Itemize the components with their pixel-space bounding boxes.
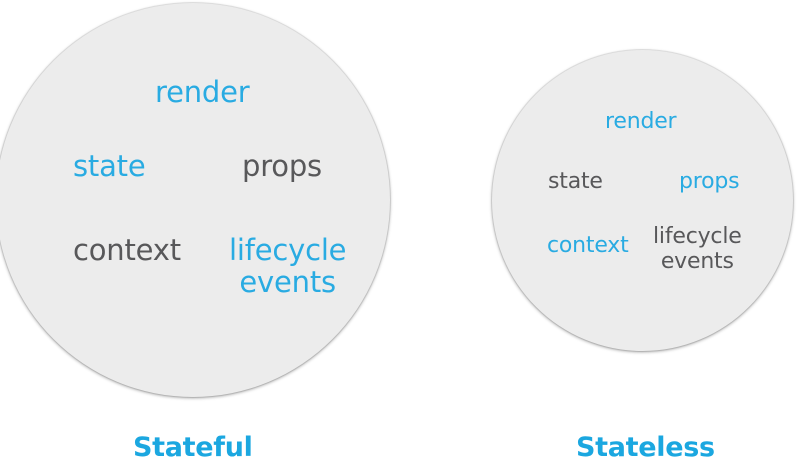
stateful-word-lifecycle-line2: events: [229, 266, 346, 298]
stateful-word-state: state: [73, 150, 145, 182]
stateless-word-render: render: [605, 110, 676, 135]
stateless-circle: [492, 50, 793, 351]
stateless-word-lifecycle-line2: events: [653, 250, 742, 275]
stateful-word-context: context: [73, 234, 181, 266]
stateless-word-state: state: [548, 170, 603, 195]
stateful-word-render: render: [155, 76, 249, 108]
stateless-word-lifecycle-events: lifecycle events: [653, 225, 742, 274]
diagram-canvas: render state props context lifecycle eve…: [0, 0, 800, 465]
stateful-caption: Stateful: [133, 432, 253, 463]
stateless-word-context: context: [547, 234, 629, 259]
stateful-word-lifecycle-events: lifecycle events: [229, 234, 346, 299]
stateless-word-props: props: [679, 170, 739, 195]
stateful-word-lifecycle-line1: lifecycle: [229, 233, 346, 267]
stateless-caption: Stateless: [576, 432, 715, 463]
stateful-word-props: props: [242, 150, 322, 182]
stateless-word-lifecycle-line1: lifecycle: [653, 224, 742, 249]
stateful-circle: [0, 3, 390, 397]
